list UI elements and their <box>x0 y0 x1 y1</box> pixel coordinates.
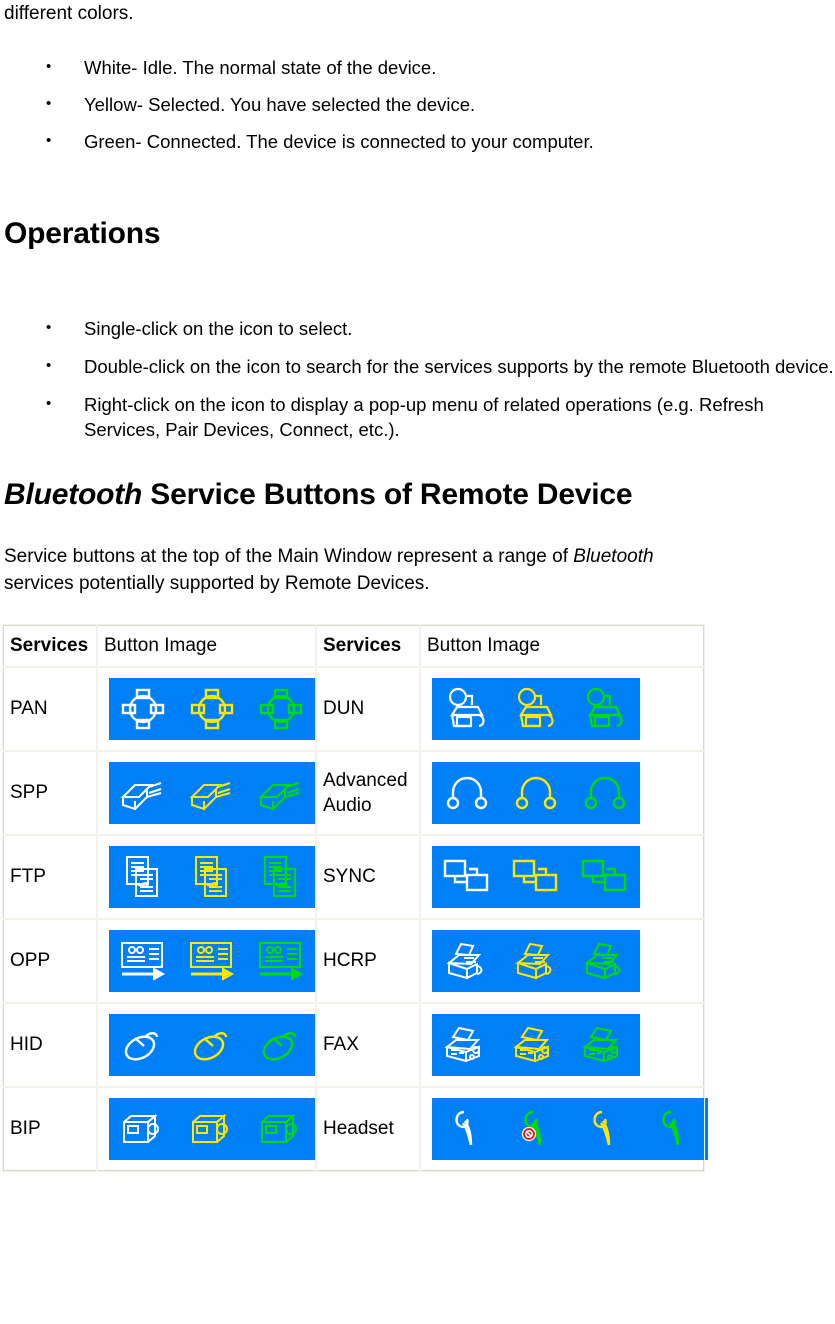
list-item: Single-click on the icon to select. <box>0 316 835 341</box>
header-button-image-right: Button Image <box>420 625 704 667</box>
icon-strip <box>432 930 640 992</box>
service-label-headset: Headset <box>316 1087 420 1171</box>
button-image-sync <box>420 835 704 919</box>
serial-port-connector-icon <box>188 773 236 813</box>
dialup-phone-icon <box>513 687 559 731</box>
service-label-bip: BIP <box>3 1087 97 1171</box>
operations-heading: Operations <box>0 216 835 252</box>
service-buttons-heading: Bluetooth Service Buttons of Remote Devi… <box>0 477 835 513</box>
table-row: FTP <box>3 835 704 919</box>
computer-mouse-icon <box>190 1025 234 1065</box>
icon-strip <box>109 846 315 908</box>
service-label-sync: SYNC <box>316 835 420 919</box>
headphones-icon <box>584 772 626 814</box>
lead-paragraph: different colors. <box>0 0 835 27</box>
header-services-left: Services <box>3 625 97 667</box>
printer-icon <box>444 941 490 981</box>
icon-strip <box>432 1098 708 1160</box>
network-nodes-icon <box>259 687 303 731</box>
linked-monitors-icon <box>443 859 491 895</box>
table-row: PAN <box>3 667 704 751</box>
fax-machine-icon <box>581 1025 629 1065</box>
header-button-image-left: Button Image <box>97 625 316 667</box>
button-image-headset <box>420 1087 704 1171</box>
header-services-right: Services <box>316 625 420 667</box>
camera-icon <box>258 1110 304 1148</box>
button-image-pan <box>97 667 316 751</box>
table-row: OPP <box>3 919 704 1003</box>
headset-earpiece-icon <box>520 1107 552 1151</box>
headphones-icon <box>515 772 557 814</box>
headset-earpiece-icon <box>451 1107 483 1151</box>
operations-bullet-list: Single-click on the icon to select. Doub… <box>0 316 835 442</box>
icon-strip <box>109 930 315 992</box>
service-label-ftp: FTP <box>3 835 97 919</box>
service-label-spp: SPP <box>3 751 97 835</box>
service-label-opp: OPP <box>3 919 97 1003</box>
linked-monitors-icon <box>581 859 629 895</box>
printer-icon <box>513 941 559 981</box>
icon-strip <box>109 762 315 824</box>
service-label-hid: HID <box>3 1003 97 1087</box>
service-label-hcrp: HCRP <box>316 919 420 1003</box>
table-header-row: Services Button Image Services Button Im… <box>3 625 704 667</box>
button-image-hcrp <box>420 919 704 1003</box>
headphones-icon <box>446 772 488 814</box>
headset-earpiece-icon <box>658 1107 690 1151</box>
button-image-fax <box>420 1003 704 1087</box>
fax-machine-icon <box>443 1025 491 1065</box>
list-item: Right-click on the icon to display a pop… <box>0 392 835 442</box>
service-label-line2: Audio <box>323 795 372 816</box>
serial-port-connector-icon <box>257 773 305 813</box>
table-row: BIP <box>3 1087 704 1171</box>
button-image-dun <box>420 667 704 751</box>
icon-strip <box>109 678 315 740</box>
icon-strip <box>109 1098 315 1160</box>
service-label-pan: PAN <box>3 667 97 751</box>
network-nodes-icon <box>190 687 234 731</box>
service-intro-italic-bluetooth: Bluetooth <box>573 546 653 567</box>
icon-strip <box>432 678 640 740</box>
service-intro-line2: services potentially supported by Remote… <box>4 573 430 594</box>
documents-stack-icon <box>124 855 162 899</box>
fax-machine-icon <box>512 1025 560 1065</box>
bluetooth-services-table: Services Button Image Services Button Im… <box>3 625 704 1171</box>
business-card-arrow-icon <box>120 941 166 981</box>
dialup-phone-icon <box>582 687 628 731</box>
business-card-arrow-icon <box>258 941 304 981</box>
heading-italic-bluetooth: Bluetooth <box>4 478 142 511</box>
button-image-ftp <box>97 835 316 919</box>
icon-strip <box>432 846 640 908</box>
device-state-bullet-list: White- Idle. The normal state of the dev… <box>0 55 835 154</box>
service-label-dun: DUN <box>316 667 420 751</box>
service-label-advanced-audio: AdvancedAudio <box>316 751 420 835</box>
camera-icon <box>189 1110 235 1148</box>
service-intro-line1: Service buttons at the top of the Main W… <box>4 546 573 567</box>
documents-stack-icon <box>262 855 300 899</box>
table-row: SPP <box>3 751 704 835</box>
button-image-advanced-audio <box>420 751 704 835</box>
headset-earpiece-icon <box>589 1107 621 1151</box>
table-row: HID <box>3 1003 704 1087</box>
list-item: Yellow- Selected. You have selected the … <box>0 92 835 117</box>
camera-icon <box>120 1110 166 1148</box>
service-label-line1: Advanced <box>323 770 408 791</box>
network-nodes-icon <box>121 687 165 731</box>
button-image-bip <box>97 1087 316 1171</box>
linked-monitors-icon <box>512 859 560 895</box>
service-label-fax: FAX <box>316 1003 420 1087</box>
icon-strip <box>432 762 640 824</box>
printer-icon <box>582 941 628 981</box>
list-item: Double-click on the icon to search for t… <box>0 354 835 379</box>
list-item: Green- Connected. The device is connecte… <box>0 129 835 154</box>
service-intro-paragraph: Service buttons at the top of the Main W… <box>0 543 835 597</box>
button-image-spp <box>97 751 316 835</box>
heading-rest: Service Buttons of Remote Device <box>142 478 632 511</box>
button-image-hid <box>97 1003 316 1087</box>
prohibited-badge <box>522 1128 535 1141</box>
documents-stack-icon <box>193 855 231 899</box>
computer-mouse-icon <box>121 1025 165 1065</box>
serial-port-connector-icon <box>119 773 167 813</box>
icon-strip <box>109 1014 315 1076</box>
button-image-opp <box>97 919 316 1003</box>
document-page: different colors. White- Idle. The norma… <box>0 0 835 1324</box>
list-item: White- Idle. The normal state of the dev… <box>0 55 835 80</box>
icon-strip <box>432 1014 640 1076</box>
business-card-arrow-icon <box>189 941 235 981</box>
dialup-phone-icon <box>444 687 490 731</box>
computer-mouse-icon <box>259 1025 303 1065</box>
